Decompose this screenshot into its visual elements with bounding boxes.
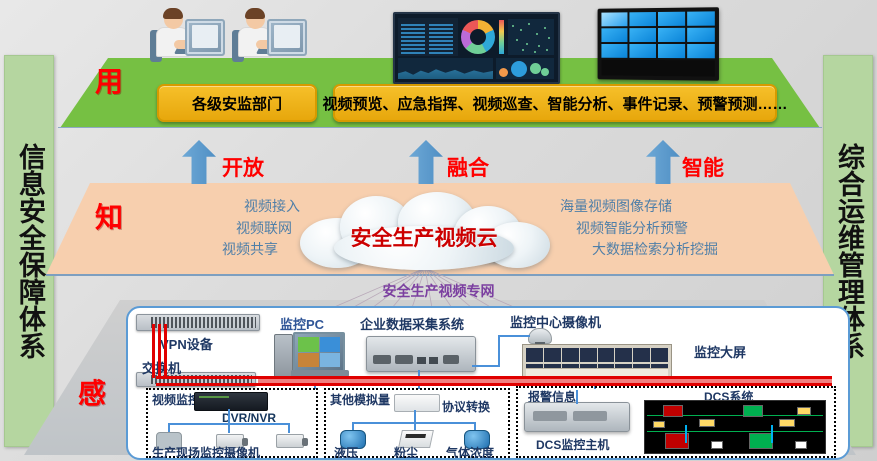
person-figure: [232, 8, 307, 70]
label-video-surveillance: 视频监控: [152, 391, 200, 408]
connector-line: [414, 410, 416, 422]
monitor-screen: [192, 25, 218, 48]
hair-shape: [163, 8, 183, 19]
people-at-computers-image: [150, 8, 310, 70]
label-monitor-large-screen: 监控大屏: [694, 342, 746, 361]
dome-camera-icon: [528, 328, 552, 344]
cloud-shape: 安全生产视频云: [294, 192, 554, 270]
video-wall-grid: [601, 11, 714, 58]
cloud-right-item: 大数据检索分析挖掘: [560, 239, 770, 261]
label-dust: 粉尘: [394, 444, 418, 460]
hair-shape: [245, 8, 265, 19]
arrow-up-open-icon: [182, 140, 216, 184]
pc-screen-icon: [293, 332, 345, 372]
layer-label-sense: 感: [78, 372, 106, 412]
layer-label-use: 用: [95, 60, 123, 100]
analytics-dashboard-image: [393, 12, 560, 84]
connector-line: [576, 390, 578, 404]
cloud-right-item: 海量视频图像存储: [560, 196, 770, 218]
box-safety-supervision-departments[interactable]: 各级安监部门: [157, 84, 317, 122]
label-vpn-device: VPN设备: [160, 334, 213, 353]
label-other-analog: 其他模拟量: [330, 391, 390, 408]
cloud-capabilities-left: 视频接入 视频联网 视频共享: [160, 196, 300, 261]
label-enterprise-data-collection: 企业数据采集系统: [360, 314, 464, 333]
label-switch: 交换机: [142, 358, 181, 377]
dvr-nvr-icon: [194, 392, 268, 411]
dashboard-table-rows: [400, 22, 426, 56]
monitor-screen: [274, 25, 300, 48]
label-site-cameras: 生产现场监控摄像机: [152, 444, 260, 460]
cloud-left-item: 视频联网: [160, 218, 300, 240]
dashboard-area-chart: [398, 58, 493, 79]
video-wall-base: [601, 60, 714, 77]
dcs-hmi-screen-icon: [644, 400, 826, 454]
connector-line: [228, 423, 230, 433]
arrow-label-convergence: 融合: [447, 152, 489, 182]
connector-line: [498, 335, 530, 337]
dashboard-bubble-chart: [496, 58, 554, 79]
monitor-shape: [185, 19, 225, 56]
label-gas-concentration: 气体浓度: [446, 444, 494, 460]
use-layer-divider: [58, 127, 822, 128]
dcs-host-icon: [524, 402, 630, 432]
private-network-label: 安全生产视频专网: [0, 281, 877, 301]
arrow-label-open: 开放: [222, 152, 264, 182]
box-application-functions[interactable]: 视频预览、应急指挥、视频巡查、智能分析、事件记录、预警预测……: [333, 84, 777, 122]
data-collection-server-icon: [366, 336, 476, 372]
uplink-line: [164, 324, 167, 378]
dashboard-color-legend-bar: [499, 20, 504, 54]
cloud-capabilities-right: 海量视频图像存储 视频智能分析预警 大数据检索分析挖掘: [560, 196, 770, 261]
label-hydraulic: 液压: [334, 444, 358, 460]
person-figure: [150, 8, 225, 70]
protocol-converter-icon: [394, 394, 440, 412]
connector-line: [288, 423, 290, 433]
red-bus-highlight: [258, 379, 832, 383]
layer-label-know: 知: [95, 196, 123, 236]
label-control-center-camera: 监控中心摄像机: [510, 312, 601, 331]
cloud-left-item: 视频共享: [160, 239, 300, 261]
bullet-camera-icon: [276, 434, 304, 448]
uplink-line: [152, 324, 155, 378]
infrastructure-panel: VPN设备 交换机 监控PC 企业数据采集系统 监控中心摄像机: [126, 306, 850, 460]
dashboard-table-panel: [398, 18, 458, 56]
connector-line: [472, 365, 500, 367]
cloud-right-item: 视频智能分析预警: [560, 218, 770, 240]
dashboard-table-rows-2: [428, 22, 454, 56]
arrow-up-intelligent-icon: [646, 140, 680, 184]
arrow-up-convergence-icon: [409, 140, 443, 184]
video-wall-image: [598, 7, 719, 81]
diagram-canvas: 信息安全保障体系 综合运维管理体系 用 知 感: [0, 0, 877, 461]
uplink-line: [158, 324, 161, 378]
connector-line: [498, 335, 500, 367]
monitor-shape: [267, 19, 307, 56]
dashboard-scatter-chart: [508, 19, 554, 55]
label-protocol-conversion: 协议转换: [442, 398, 490, 415]
sidebar-information-security: 信息安全保障体系: [4, 55, 54, 447]
cloud-title: 安全生产视频云: [294, 222, 554, 252]
cloud-left-item: 视频接入: [160, 196, 300, 218]
label-monitor-pc: 监控PC: [280, 314, 324, 333]
connector-line: [228, 409, 230, 423]
arrow-label-intelligent: 智能: [682, 152, 724, 182]
label-dcs-host: DCS监控主机: [536, 436, 609, 453]
dashboard-donut-chart: [461, 20, 495, 54]
